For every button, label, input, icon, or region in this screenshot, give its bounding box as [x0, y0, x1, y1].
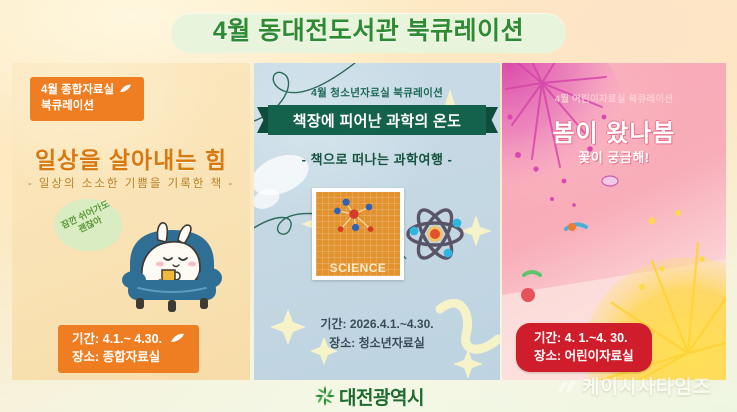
panel-row: 4월 종합자료실 북큐레이션 일상을 살아내는 힘 - 일상의 소소한 기쁨을 … [0, 63, 737, 380]
watermark-text: 케이시사타임즈 [582, 372, 711, 399]
poster-canvas: 4월 동대전도서관 북큐레이션 4월 종합자료실 북큐레이션 일상을 살아내는 … [0, 0, 737, 412]
right-footer-badge: 기간: 4. 1.~4. 30. 장소: 어린이자료실 [516, 323, 652, 372]
watermark-logo-icon [556, 376, 578, 396]
panel-youth-reading-room[interactable]: 4월 청소년자료실 북큐레이션 책장에 피어난 과학의 온도 - 책으로 떠나는… [254, 63, 500, 380]
mid-footer-period: 기간: 2026.4.1.~4.30. [254, 315, 500, 334]
speech-bubble-text: 잠깐 쉬어가도 괜찮아 [56, 197, 120, 244]
city-brand: 대전광역시 [313, 383, 424, 410]
science-card-label: SCIENCE [316, 261, 400, 275]
science-card: SCIENCE [312, 188, 404, 280]
mid-panel-kicker: 4월 청소년자료실 북큐레이션 [254, 85, 500, 100]
right-footer-place: 장소: 어린이자료실 [534, 349, 634, 363]
leaf-swoosh-icon [170, 333, 185, 344]
left-footer-place: 장소: 종합자료실 [72, 350, 160, 364]
science-card-inner: SCIENCE [316, 192, 400, 276]
left-footer-badge: 기간: 4.1.~ 4.30. 장소: 종합자료실 [58, 325, 199, 373]
watermark: 케이시사타임즈 [556, 372, 711, 399]
left-footer-period: 기간: 4.1.~ 4.30. [72, 332, 162, 346]
mid-panel-subtitle: - 책으로 떠나는 과학여행 - [254, 149, 500, 168]
left-panel-subtitle: - 일상의 소소한 기쁨을 기록한 책 - [12, 175, 250, 191]
mid-ribbon-banner: 책장에 피어난 과학의 온도 [268, 105, 486, 135]
atom-icon [404, 203, 466, 265]
mid-panel-title: 책장에 피어난 과학의 온도 [293, 110, 462, 131]
left-top-badge-line2: 북큐레이션 [41, 100, 94, 112]
left-panel-title: 일상을 살아내는 힘 [12, 141, 250, 175]
poster-header: 4월 동대전도서관 북큐레이션 [0, 0, 737, 66]
mid-footer-place: 장소: 청소년자료실 [254, 334, 500, 353]
city-name: 대전광역시 [339, 383, 424, 410]
right-footer-period: 기간: 4. 1.~4. 30. [534, 331, 628, 345]
panel-general-reading-room[interactable]: 4월 종합자료실 북큐레이션 일상을 살아내는 힘 - 일상의 소소한 기쁨을 … [12, 63, 250, 380]
right-panel-subtitle: 꽃이 궁금해! [502, 147, 726, 166]
panel-children-reading-room[interactable]: 4월 어린이자료실 북큐레이션 봄이 왔나봄 꽃이 궁금해! 기간: 4. 1.… [502, 63, 726, 380]
daejeon-logo-icon [313, 384, 337, 408]
right-panel-title: 봄이 왔나봄 [502, 113, 726, 148]
mid-footer: 기간: 2026.4.1.~4.30. 장소: 청소년자료실 [254, 315, 500, 352]
left-top-badge: 4월 종합자료실 북큐레이션 [30, 77, 144, 121]
page-title: 4월 동대전도서관 북큐레이션 [213, 19, 524, 44]
rabbit-in-armchair-illustration [116, 218, 228, 318]
leaf-swoosh-icon [119, 84, 132, 94]
molecule-icon [316, 192, 392, 252]
title-pill: 4월 동대전도서관 북큐레이션 [171, 13, 566, 53]
speech-bubble: 잠깐 쉬어가도 괜찮아 [54, 199, 122, 251]
left-top-badge-line1: 4월 종합자료실 [41, 84, 114, 96]
right-panel-kicker: 4월 어린이자료실 북큐레이션 [502, 91, 726, 105]
